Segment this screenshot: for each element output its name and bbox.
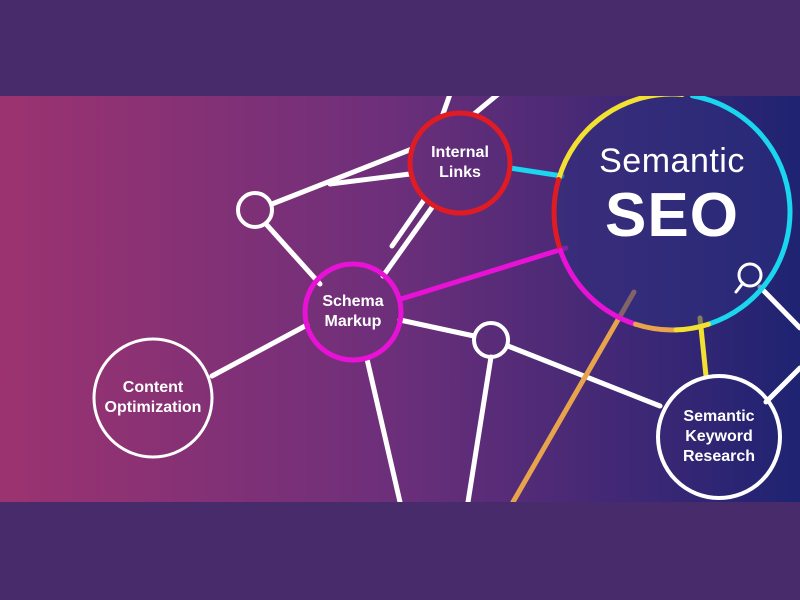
node-label-schema-markup: Markup bbox=[325, 313, 382, 330]
node-label-content-optimization: Content bbox=[123, 379, 184, 396]
node-label-semantic-keyword-research: Keyword bbox=[685, 428, 753, 445]
screenshot-canvas: InternalLinksSchemaMarkupContentOptimiza… bbox=[0, 0, 800, 600]
brand-semantic-text: Semantic bbox=[599, 142, 745, 180]
letterbox-band-bottom bbox=[0, 502, 800, 600]
brand-seo-text: SEO bbox=[605, 181, 739, 250]
letterbox-band-top bbox=[0, 0, 800, 96]
node-label-internal-links: Internal bbox=[431, 144, 489, 161]
node-label-semantic-keyword-research: Semantic bbox=[683, 408, 754, 425]
node-label-schema-markup: Schema bbox=[322, 293, 383, 310]
network-diagram-svg: InternalLinksSchemaMarkupContentOptimiza… bbox=[0, 96, 800, 502]
node-label-content-optimization: Optimization bbox=[105, 399, 202, 416]
hub-brand-text: Semantic SEO bbox=[599, 142, 745, 250]
node-label-semantic-keyword-research: Research bbox=[683, 448, 755, 465]
node-label-internal-links: Links bbox=[439, 164, 481, 181]
seo-network-graphic: InternalLinksSchemaMarkupContentOptimiza… bbox=[0, 96, 800, 502]
